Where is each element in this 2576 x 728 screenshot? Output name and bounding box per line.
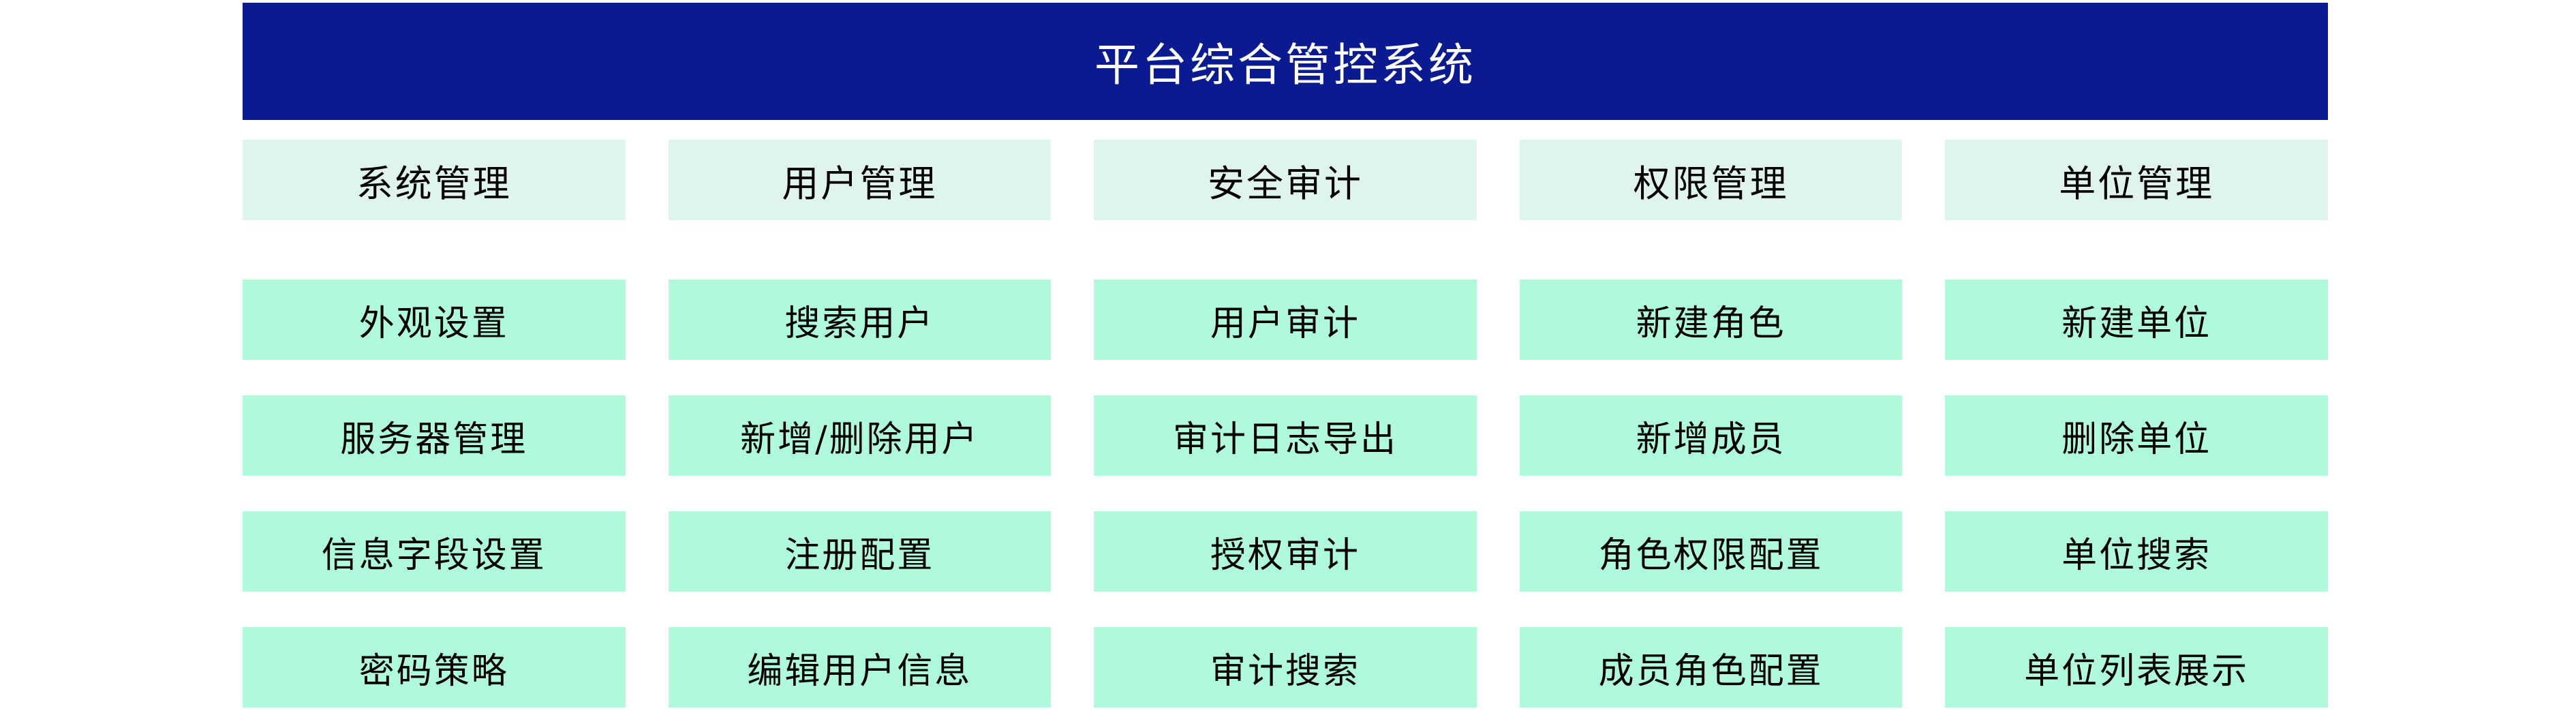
function-cell[interactable]: 服务器管理 [243, 395, 626, 476]
category-cell-system[interactable]: 系统管理 [243, 140, 626, 220]
category-label: 安全审计 [1208, 153, 1363, 207]
function-label: 服务器管理 [340, 410, 527, 461]
function-label: 新建单位 [2061, 294, 2211, 346]
function-label: 新增成员 [1636, 410, 1786, 461]
function-grid: 系统管理 用户管理 安全审计 权限管理 单位管理 外观设置 搜索用户 [243, 140, 2328, 708]
function-cell[interactable]: 新建角色 [1520, 279, 1903, 360]
function-label: 注册配置 [784, 526, 934, 577]
function-row: 服务器管理 新增/删除用户 审计日志导出 新增成员 删除单位 [243, 395, 2328, 476]
category-header-row: 系统管理 用户管理 安全审计 权限管理 单位管理 [243, 140, 2328, 220]
function-cell[interactable]: 用户审计 [1094, 279, 1477, 360]
function-label: 信息字段设置 [322, 526, 547, 577]
function-label: 删除单位 [2061, 410, 2211, 461]
function-label: 审计日志导出 [1173, 410, 1398, 461]
function-cell[interactable]: 审计搜索 [1094, 627, 1477, 708]
function-label: 新增/删除用户 [740, 410, 979, 461]
function-cell[interactable]: 外观设置 [243, 279, 626, 360]
category-label: 单位管理 [2059, 153, 2214, 207]
function-cell[interactable]: 删除单位 [1945, 395, 2328, 476]
function-label: 外观设置 [359, 294, 509, 346]
function-label: 授权审计 [1210, 526, 1360, 577]
function-label: 成员角色配置 [1599, 642, 1824, 693]
category-cell-security-audit[interactable]: 安全审计 [1094, 140, 1477, 220]
function-cell[interactable]: 搜索用户 [669, 279, 1052, 360]
function-label: 编辑用户信息 [747, 642, 972, 693]
function-cell[interactable]: 信息字段设置 [243, 511, 626, 592]
category-label: 系统管理 [356, 153, 512, 207]
function-cell[interactable]: 新建单位 [1945, 279, 2328, 360]
category-label: 用户管理 [782, 153, 937, 207]
page-title: 平台综合管控系统 [1094, 29, 1476, 94]
category-cell-user[interactable]: 用户管理 [669, 140, 1052, 220]
page-root: 平台综合管控系统 系统管理 用户管理 安全审计 权限管理 单位管理 外观设置 [0, 0, 2576, 728]
function-cell[interactable]: 角色权限配置 [1520, 511, 1903, 592]
function-cell[interactable]: 单位搜索 [1945, 511, 2328, 592]
function-label: 搜索用户 [784, 294, 934, 346]
function-cell[interactable]: 新增成员 [1520, 395, 1903, 476]
function-cell[interactable]: 注册配置 [669, 511, 1052, 592]
function-cell[interactable]: 密码策略 [243, 627, 626, 708]
function-cell[interactable]: 编辑用户信息 [669, 627, 1052, 708]
function-label: 角色权限配置 [1599, 526, 1824, 577]
function-cell[interactable]: 成员角色配置 [1520, 627, 1903, 708]
category-cell-permission[interactable]: 权限管理 [1520, 140, 1903, 220]
function-row: 外观设置 搜索用户 用户审计 新建角色 新建单位 [243, 279, 2328, 360]
function-cell[interactable]: 授权审计 [1094, 511, 1477, 592]
function-cell[interactable]: 审计日志导出 [1094, 395, 1477, 476]
function-label: 审计搜索 [1210, 642, 1360, 693]
function-label: 密码策略 [359, 642, 509, 693]
function-row: 密码策略 编辑用户信息 审计搜索 成员角色配置 单位列表展示 [243, 627, 2328, 708]
function-cell[interactable]: 单位列表展示 [1945, 627, 2328, 708]
function-label: 单位列表展示 [2024, 642, 2249, 693]
category-cell-unit[interactable]: 单位管理 [1945, 140, 2328, 220]
app-title-bar: 平台综合管控系统 [243, 3, 2328, 120]
function-label: 单位搜索 [2061, 526, 2211, 577]
function-row: 信息字段设置 注册配置 授权审计 角色权限配置 单位搜索 [243, 511, 2328, 592]
category-label: 权限管理 [1634, 153, 1789, 207]
function-label: 新建角色 [1636, 294, 1786, 346]
function-label: 用户审计 [1210, 294, 1360, 346]
function-cell[interactable]: 新增/删除用户 [669, 395, 1052, 476]
